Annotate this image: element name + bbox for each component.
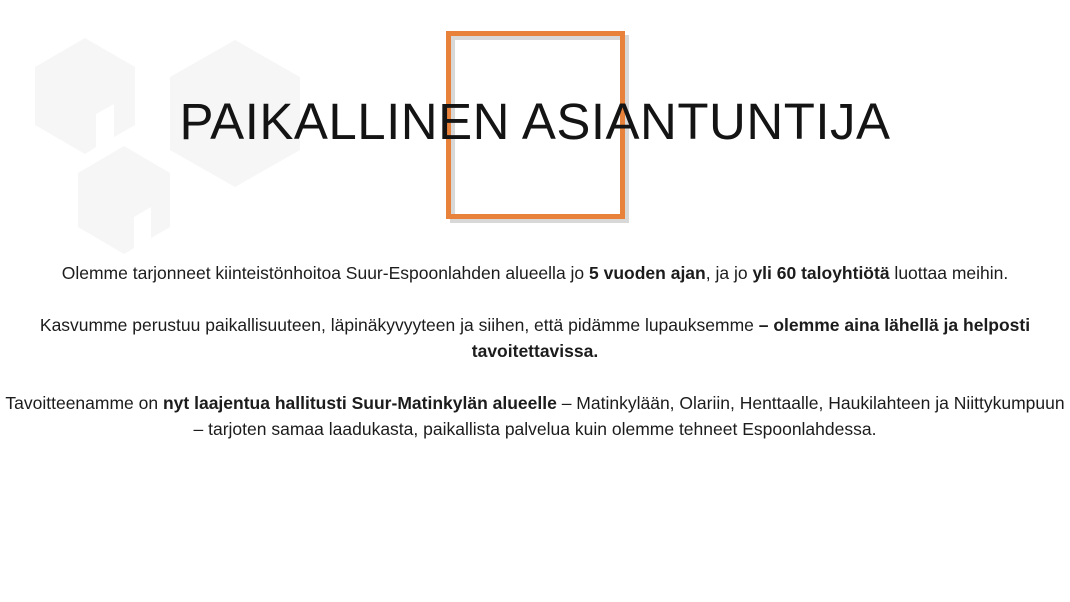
paragraph-2: Kasvumme perustuu paikallisuuteen, läpin…: [0, 312, 1070, 364]
slide-canvas: PAIKALLINEN ASIANTUNTIJA Olemme tarjonne…: [0, 0, 1070, 602]
paragraph-1: Olemme tarjonneet kiinteistönhoitoa Suur…: [0, 260, 1070, 286]
page-title: PAIKALLINEN ASIANTUNTIJA: [0, 96, 1070, 147]
body-copy: Olemme tarjonneet kiinteistönhoitoa Suur…: [0, 260, 1070, 442]
paragraph-3: Tavoitteenamme on nyt laajentua hallitus…: [0, 390, 1070, 442]
hexagon-bottom-left-icon: [78, 146, 170, 254]
